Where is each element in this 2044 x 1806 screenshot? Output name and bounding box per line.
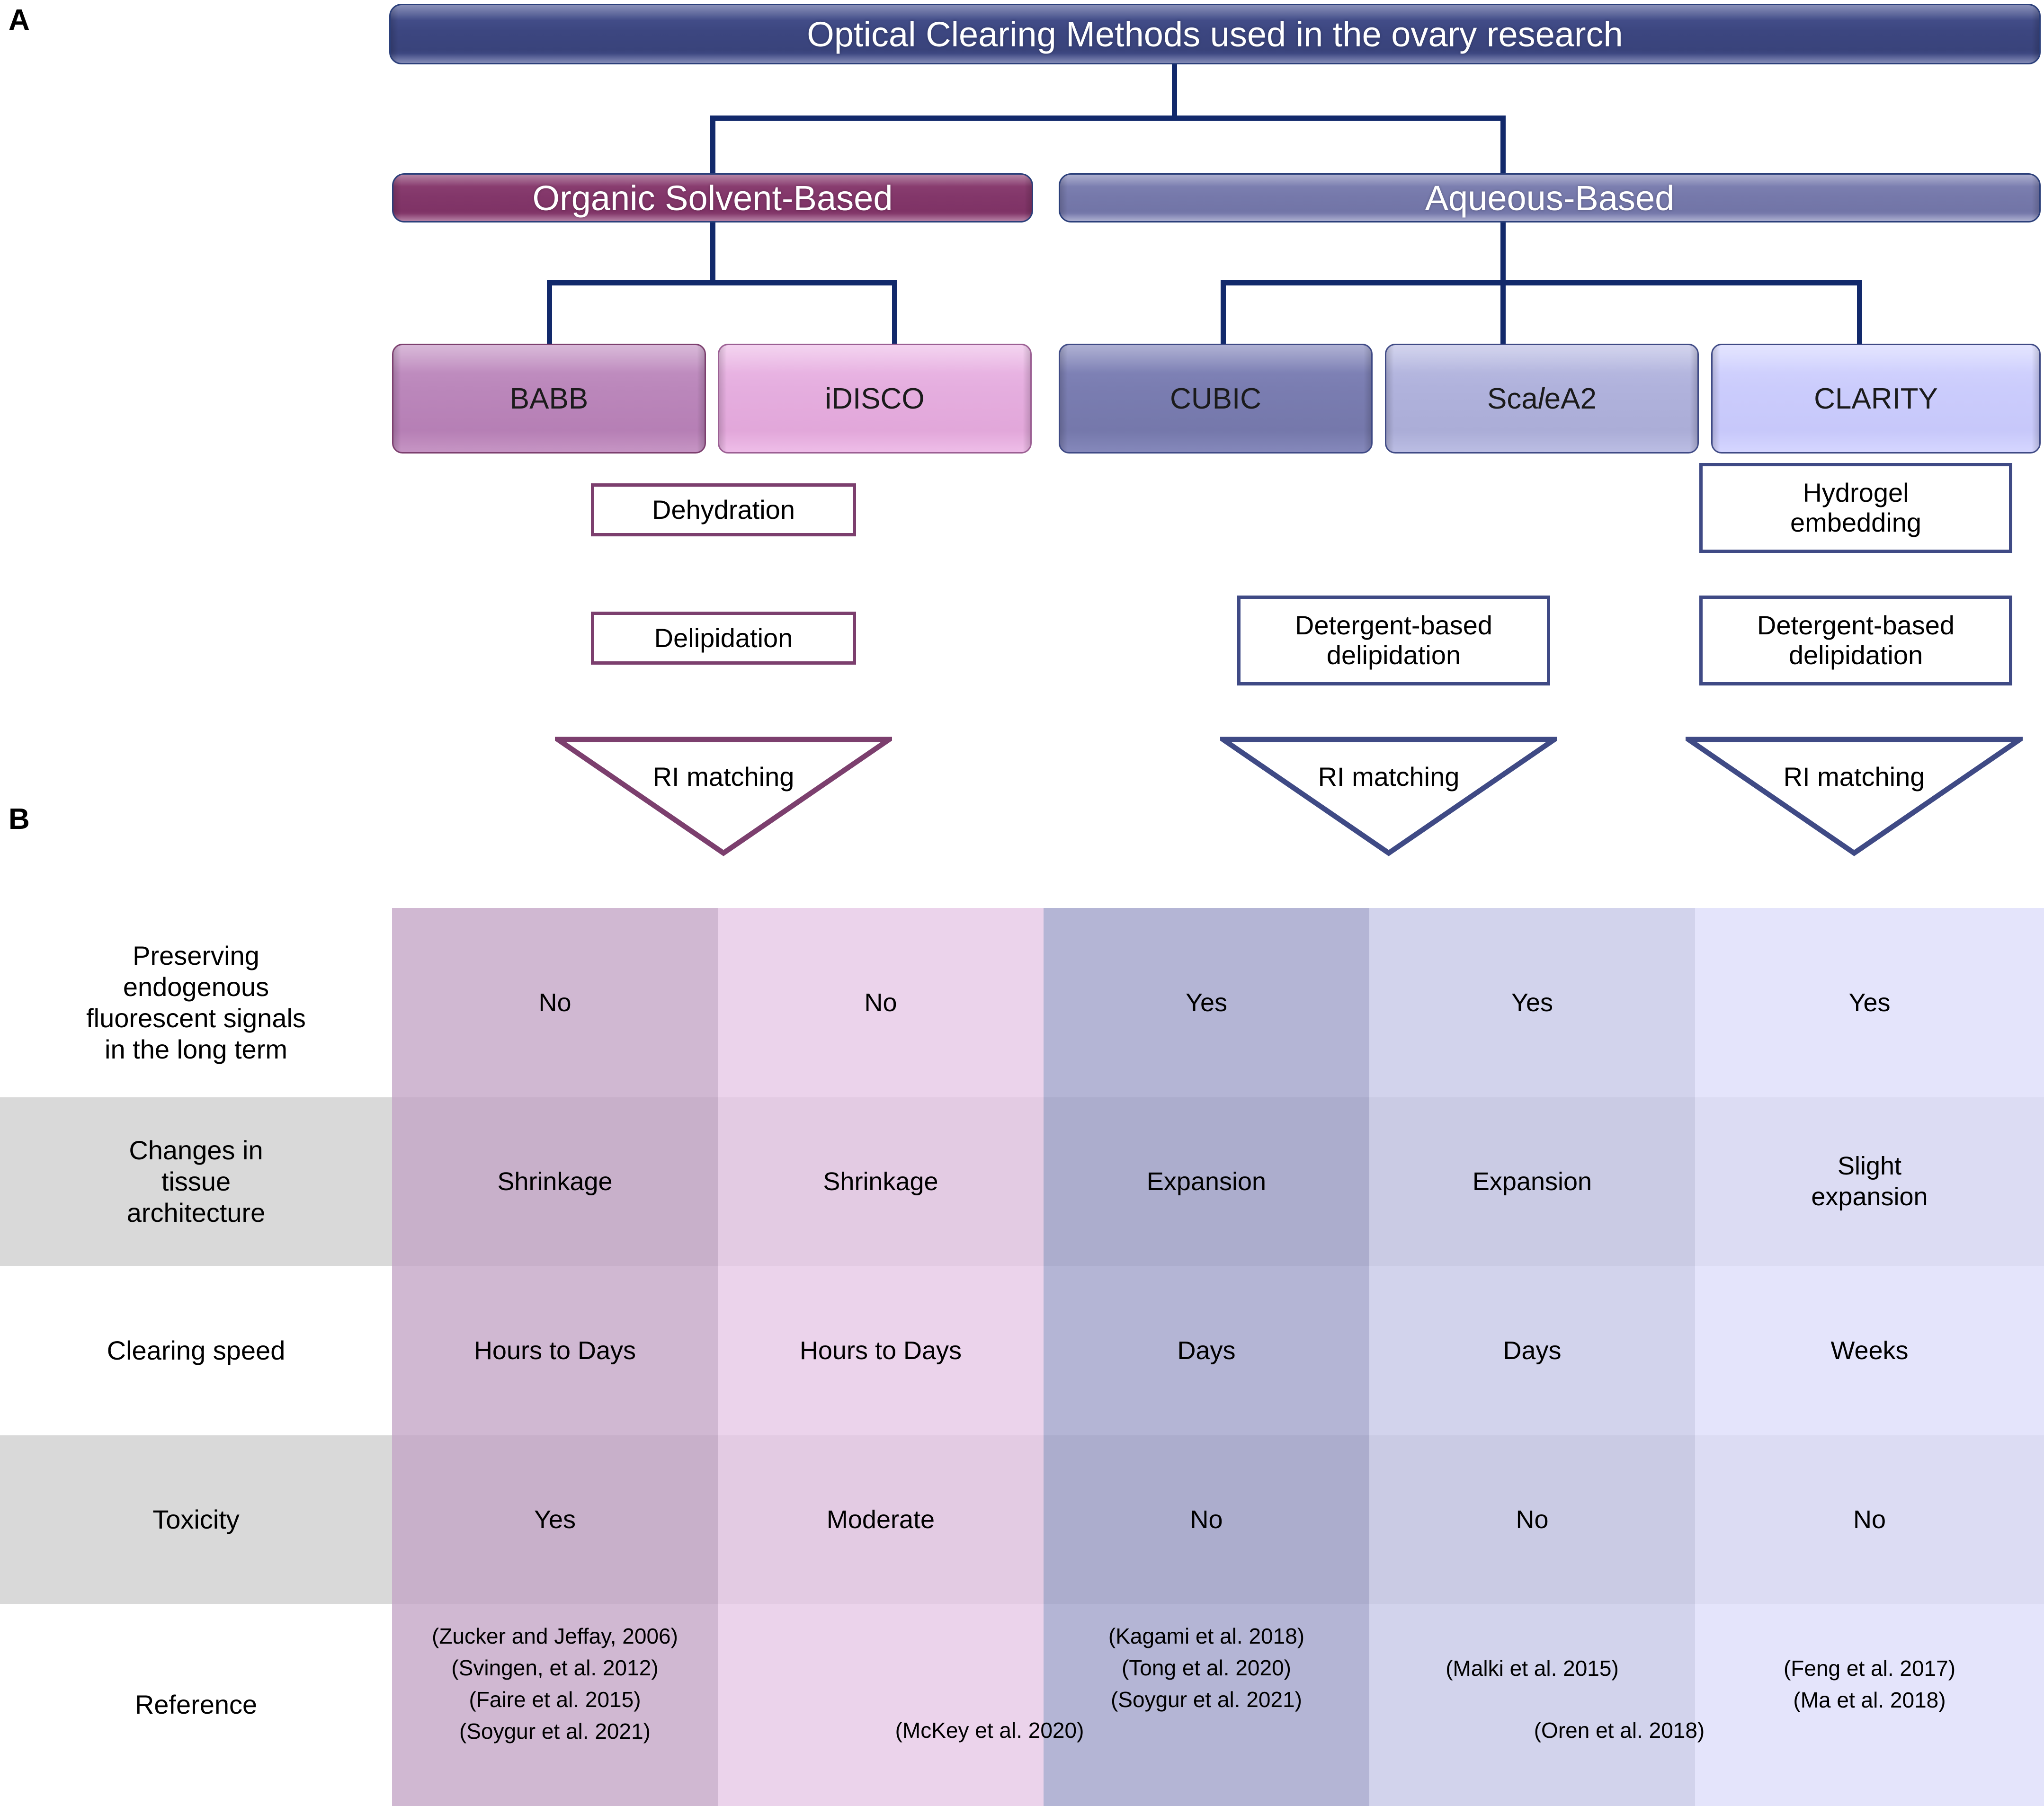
ri-matching-label-clarity: RI matching [1686, 761, 2023, 792]
cell-clearing-speed-clarity: Weeks [1695, 1266, 2044, 1435]
method-label-scalea2-italic: l [1538, 383, 1544, 415]
reference-entry: (Soygur et al. 2021) [1044, 1684, 1369, 1716]
cell-preserving-signals-babb: No [392, 908, 718, 1097]
row-label-clearing-speed: Clearing speed [0, 1266, 392, 1435]
panel-a-label: A [9, 6, 30, 35]
ri-arrow-shape-organic [555, 735, 892, 857]
ri-matching-label-cubic: RI matching [1220, 761, 1557, 792]
cell-clearing-speed-babb: Hours to Days [392, 1266, 718, 1435]
ri-arrow-shape-cubic [1220, 735, 1557, 857]
cell-toxicity-idisco: Moderate [718, 1435, 1044, 1604]
box-shade-left [1060, 175, 1068, 221]
connector-idisco-drop [892, 280, 897, 346]
box-shade-right [2032, 345, 2039, 452]
reference-entry-mckey: (McKey et al. 2020) [833, 1717, 1146, 1743]
method-label-cubic: CUBIC [1163, 382, 1268, 416]
process-box-detergent-delipidation-clarity: Detergent-based delipidation [1699, 596, 2012, 685]
reference-entry: (Soygur et al. 2021) [392, 1716, 718, 1747]
connector-aqueous-stem [1500, 222, 1506, 280]
reference-entry: (Ma et al. 2018) [1695, 1684, 2044, 1716]
cell-reference-cubic: (Kagami et al. 2018) (Tong et al. 2020) … [1044, 1620, 1369, 1716]
ri-matching-label-organic: RI matching [555, 761, 892, 792]
box-shade-right [1023, 345, 1030, 452]
box-gloss [1386, 345, 1697, 373]
process-box-detergent-delipidation-cubic: Detergent-based delipidation [1237, 596, 1550, 685]
box-gloss [719, 345, 1030, 373]
box-shade-right [1364, 345, 1371, 452]
row-label-tissue-architecture: Changes in tissue architecture [0, 1097, 392, 1266]
reference-entry: (Malki et al. 2015) [1369, 1653, 1695, 1684]
connector-scalea2-drop [1500, 280, 1506, 346]
method-box-cubic: CUBIC [1059, 344, 1373, 454]
panel-b-label: B [9, 805, 30, 834]
box-shade-left [1713, 345, 1720, 452]
box-shade-right [2032, 5, 2039, 63]
cell-toxicity-clarity: No [1695, 1435, 2044, 1604]
flow-title-box: Optical Clearing Methods used in the ova… [389, 4, 2041, 64]
method-label-scalea2: ScaleA2 [1481, 382, 1603, 416]
box-shade-right [1690, 345, 1697, 452]
category-label-organic: Organic Solvent-Based [526, 178, 900, 218]
reference-entry: (Kagami et al. 2018) [1044, 1620, 1369, 1652]
cell-reference-babb: (Zucker and Jeffay, 2006) (Svingen, et a… [392, 1620, 718, 1748]
cell-reference-clarity: (Feng et al. 2017) (Ma et al. 2018) [1695, 1653, 2044, 1716]
method-label-clarity: CLARITY [1807, 382, 1945, 416]
connector-aqueous-bar [1221, 280, 1862, 285]
cell-clearing-speed-cubic: Days [1044, 1266, 1369, 1435]
flow-title-text: Optical Clearing Methods used in the ova… [800, 14, 1629, 54]
cell-toxicity-scalea2: No [1369, 1435, 1695, 1604]
row-label-text: Reference [135, 1689, 257, 1720]
box-gloss [393, 345, 705, 373]
row-label-reference: Reference [0, 1604, 392, 1806]
ri-matching-arrow-clarity: RI matching [1686, 735, 2023, 857]
connector-aqueous-drop [1500, 116, 1506, 177]
method-box-idisco: iDISCO [718, 344, 1032, 454]
process-label-delipidation: Delipidation [654, 623, 793, 653]
category-box-aqueous: Aqueous-Based [1059, 173, 2041, 222]
method-box-clarity: CLARITY [1711, 344, 2041, 454]
box-shade-left [393, 175, 401, 221]
process-label-hydrogel-embedding: Hydrogel embedding [1790, 478, 1921, 537]
cell-clearing-speed-scalea2: Days [1369, 1266, 1695, 1435]
cell-preserving-signals-idisco: No [718, 908, 1044, 1097]
reference-entry: (Feng et al. 2017) [1695, 1653, 2044, 1684]
connector-organic-stem [710, 222, 715, 280]
row-label-text: Clearing speed [107, 1335, 286, 1366]
row-label-text: Preserving endogenous fluorescent signal… [86, 940, 306, 1065]
process-label-detergent-delipidation-cubic: Detergent-based delipidation [1295, 611, 1492, 670]
cell-toxicity-babb: Yes [392, 1435, 718, 1604]
method-label-scalea2-pre: Sca [1487, 383, 1538, 415]
box-shade-right [697, 345, 705, 452]
method-label-babb: BABB [503, 382, 595, 416]
process-label-detergent-delipidation-clarity: Detergent-based delipidation [1757, 611, 1955, 670]
cell-tissue-architecture-scalea2: Expansion [1369, 1097, 1695, 1266]
box-shade-right [2032, 175, 2039, 221]
cell-tissue-architecture-clarity: Slight expansion [1695, 1097, 2044, 1266]
connector-organic-bar [547, 280, 897, 285]
ri-matching-arrow-cubic: RI matching [1220, 735, 1557, 857]
row-label-toxicity: Toxicity [0, 1435, 392, 1604]
box-shade-left [1060, 345, 1068, 452]
category-label-aqueous: Aqueous-Based [1419, 178, 1681, 218]
cell-reference-scalea2: (Malki et al. 2015) [1369, 1653, 1695, 1684]
row-label-text: Changes in tissue architecture [127, 1135, 266, 1228]
cell-preserving-signals-cubic: Yes [1044, 908, 1369, 1097]
ri-arrow-shape-clarity [1686, 735, 2023, 857]
process-label-dehydration: Dehydration [652, 495, 795, 525]
box-shade-right [1024, 175, 1032, 221]
box-shade-left [391, 5, 398, 63]
cell-tissue-architecture-cubic: Expansion [1044, 1097, 1369, 1266]
row-label-text: Toxicity [152, 1504, 240, 1535]
reference-entry: (Zucker and Jeffay, 2006) [392, 1620, 718, 1652]
box-shade-left [1386, 345, 1394, 452]
process-box-dehydration: Dehydration [591, 483, 856, 536]
ri-matching-arrow-organic: RI matching [555, 735, 892, 857]
connector-clarity-drop [1857, 280, 1862, 346]
reference-entry-oren: (Oren et al. 2018) [1463, 1717, 1776, 1743]
box-gloss [1713, 345, 2039, 373]
cell-preserving-signals-clarity: Yes [1695, 908, 2044, 1097]
method-box-scalea2: ScaleA2 [1385, 344, 1699, 454]
box-shade-left [393, 345, 401, 452]
connector-cubic-drop [1221, 280, 1226, 346]
box-gloss-bottom [391, 53, 2039, 63]
method-box-babb: BABB [392, 344, 706, 454]
connector-title-stem [1172, 64, 1177, 116]
cell-tissue-architecture-idisco: Shrinkage [718, 1097, 1044, 1266]
connector-babb-drop [547, 280, 552, 346]
box-shade-left [719, 345, 727, 452]
connector-level2-bar [710, 116, 1506, 121]
cell-tissue-architecture-babb: Shrinkage [392, 1097, 718, 1266]
method-label-idisco: iDISCO [818, 382, 931, 416]
reference-entry: (Faire et al. 2015) [392, 1684, 718, 1716]
cell-clearing-speed-idisco: Hours to Days [718, 1266, 1044, 1435]
method-label-scalea2-post: eA2 [1544, 383, 1597, 415]
cell-preserving-signals-scalea2: Yes [1369, 908, 1695, 1097]
box-gloss [1060, 345, 1371, 373]
process-box-delipidation: Delipidation [591, 612, 856, 665]
reference-entry: (Tong et al. 2020) [1044, 1652, 1369, 1684]
process-box-hydrogel-embedding: Hydrogel embedding [1699, 463, 2012, 553]
category-box-organic: Organic Solvent-Based [392, 173, 1033, 222]
connector-organic-drop [710, 116, 715, 177]
reference-entry: (Svingen, et al. 2012) [392, 1652, 718, 1684]
row-label-preserving-signals: Preserving endogenous fluorescent signal… [0, 908, 392, 1097]
comparison-table: Preserving endogenous fluorescent signal… [0, 908, 2044, 1806]
cell-toxicity-cubic: No [1044, 1435, 1369, 1604]
